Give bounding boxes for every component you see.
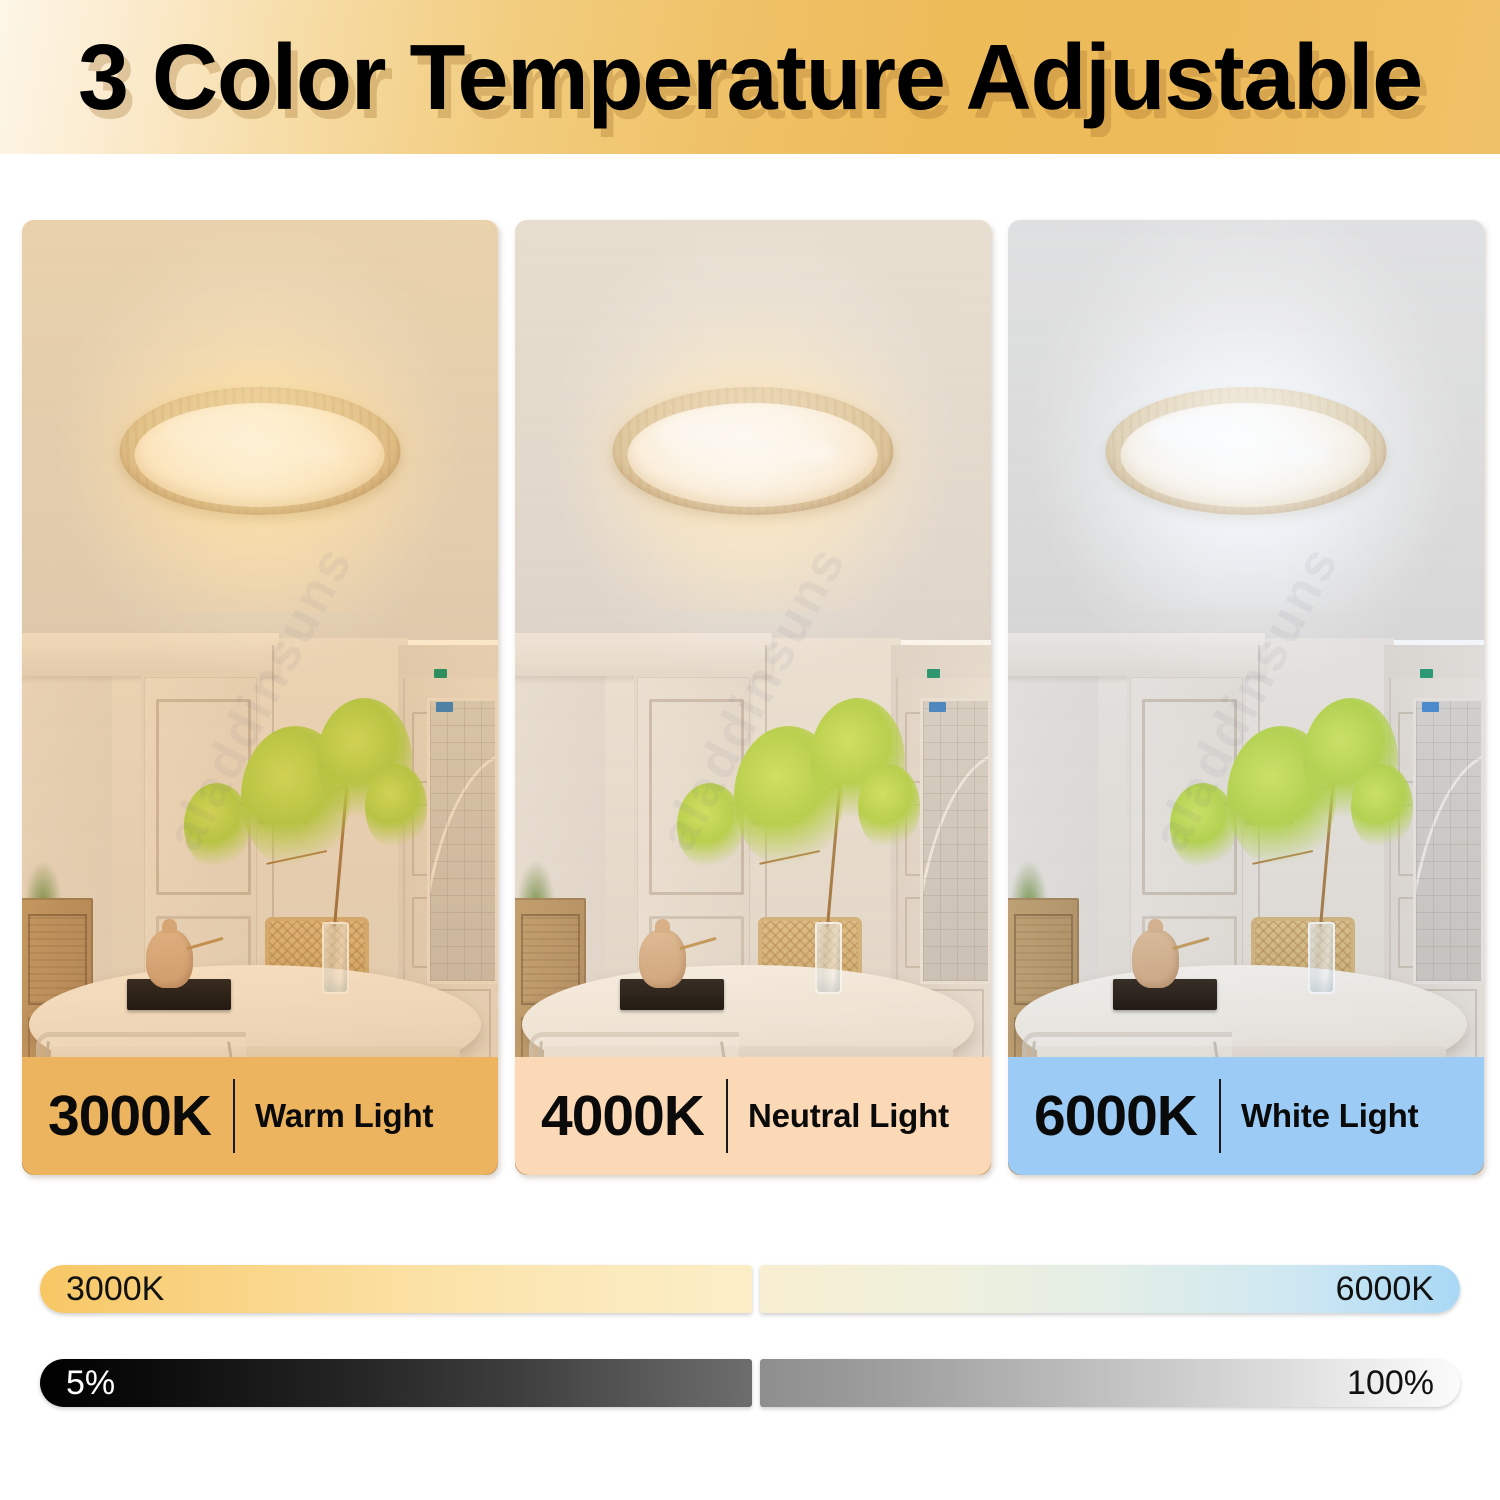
color-temperature-panels: aladdinsuns 3000K Warm Light: [22, 220, 1480, 1175]
panel-3000k[interactable]: aladdinsuns 3000K Warm Light: [22, 220, 498, 1175]
brightness-range-bar[interactable]: 5% 100%: [40, 1359, 1460, 1407]
control-range-bars: 3000K 6000K 5% 100%: [40, 1265, 1460, 1453]
cool-glow-overlay: [1008, 220, 1484, 1175]
color-temperature-range-bar[interactable]: 3000K 6000K: [40, 1265, 1460, 1313]
label-bar-3000k: 3000K Warm Light: [22, 1057, 498, 1175]
product-feature-graphic: 3 Color Temperature Adjustable: [0, 0, 1500, 1500]
room-scene-cool: aladdinsuns: [1008, 220, 1484, 1175]
warm-glow-overlay: [22, 220, 498, 1175]
brightness-min-label: 5%: [40, 1364, 115, 1403]
label-bar-6000k: 6000K White Light: [1008, 1057, 1484, 1175]
cct-min-label: 3000K: [40, 1270, 164, 1309]
cct-max-label: 6000K: [1336, 1270, 1460, 1309]
cct-bar-warm-half[interactable]: 3000K: [40, 1265, 752, 1313]
light-name: White Light: [1241, 1097, 1418, 1135]
label-divider: [1219, 1079, 1221, 1153]
light-name: Warm Light: [255, 1097, 433, 1135]
brightness-max-label: 100%: [1347, 1364, 1460, 1403]
kelvin-value: 3000K: [22, 1083, 211, 1149]
light-name: Neutral Light: [748, 1097, 949, 1135]
room-scene-neutral: aladdinsuns: [515, 220, 991, 1175]
neutral-glow-overlay: [515, 220, 991, 1175]
page-title: 3 Color Temperature Adjustable: [11, 0, 1489, 154]
label-divider: [233, 1079, 235, 1153]
room-scene-warm: aladdinsuns: [22, 220, 498, 1175]
brightness-bar-light-half[interactable]: 100%: [760, 1359, 1460, 1407]
label-divider: [726, 1079, 728, 1153]
kelvin-value: 6000K: [1008, 1083, 1197, 1149]
header-banner: 3 Color Temperature Adjustable: [0, 0, 1500, 154]
brightness-bar-dark-half[interactable]: 5%: [40, 1359, 752, 1407]
label-bar-4000k: 4000K Neutral Light: [515, 1057, 991, 1175]
panel-4000k[interactable]: aladdinsuns 4000K Neutral Light: [515, 220, 991, 1175]
cct-bar-cool-half[interactable]: 6000K: [760, 1265, 1460, 1313]
panel-6000k[interactable]: aladdinsuns 6000K White Light: [1008, 220, 1484, 1175]
kelvin-value: 4000K: [515, 1083, 704, 1149]
